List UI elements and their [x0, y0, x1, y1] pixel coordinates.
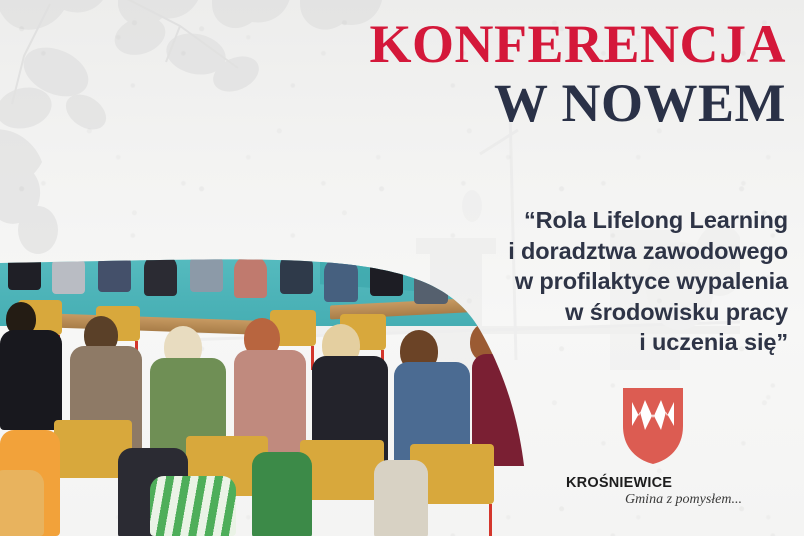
- headline-line-2: W NOWEM: [366, 77, 786, 130]
- shield-wrap: [558, 386, 748, 466]
- poster-quote: “Rola Lifelong Learning i doradztwa zawo…: [358, 205, 788, 358]
- poster-headline: KONFERENCJA W NOWEM: [366, 18, 786, 130]
- logo-municipality-name: KROŚNIEWICE: [558, 475, 748, 491]
- quote-line-2: i doradztwa zawodowego: [358, 236, 788, 267]
- quote-line-3: w profilaktyce wypalenia: [358, 266, 788, 297]
- krosniewice-logo: KROŚNIEWICE Gmina z pomysłem...: [558, 386, 748, 508]
- quote-line-1: “Rola Lifelong Learning: [358, 205, 788, 236]
- quote-line-4: w środowisku pracy: [358, 297, 788, 328]
- logo-tagline: Gmina z pomysłem...: [558, 492, 748, 508]
- gym-chair: [300, 440, 384, 536]
- headline-line-1: KONFERENCJA: [366, 18, 786, 71]
- quote-line-5: i uczenia się”: [358, 327, 788, 358]
- conference-poster: KONFERENCJA W NOWEM “Rola Lifelong Learn…: [0, 0, 804, 536]
- shield-w-crown-icon: [621, 386, 685, 466]
